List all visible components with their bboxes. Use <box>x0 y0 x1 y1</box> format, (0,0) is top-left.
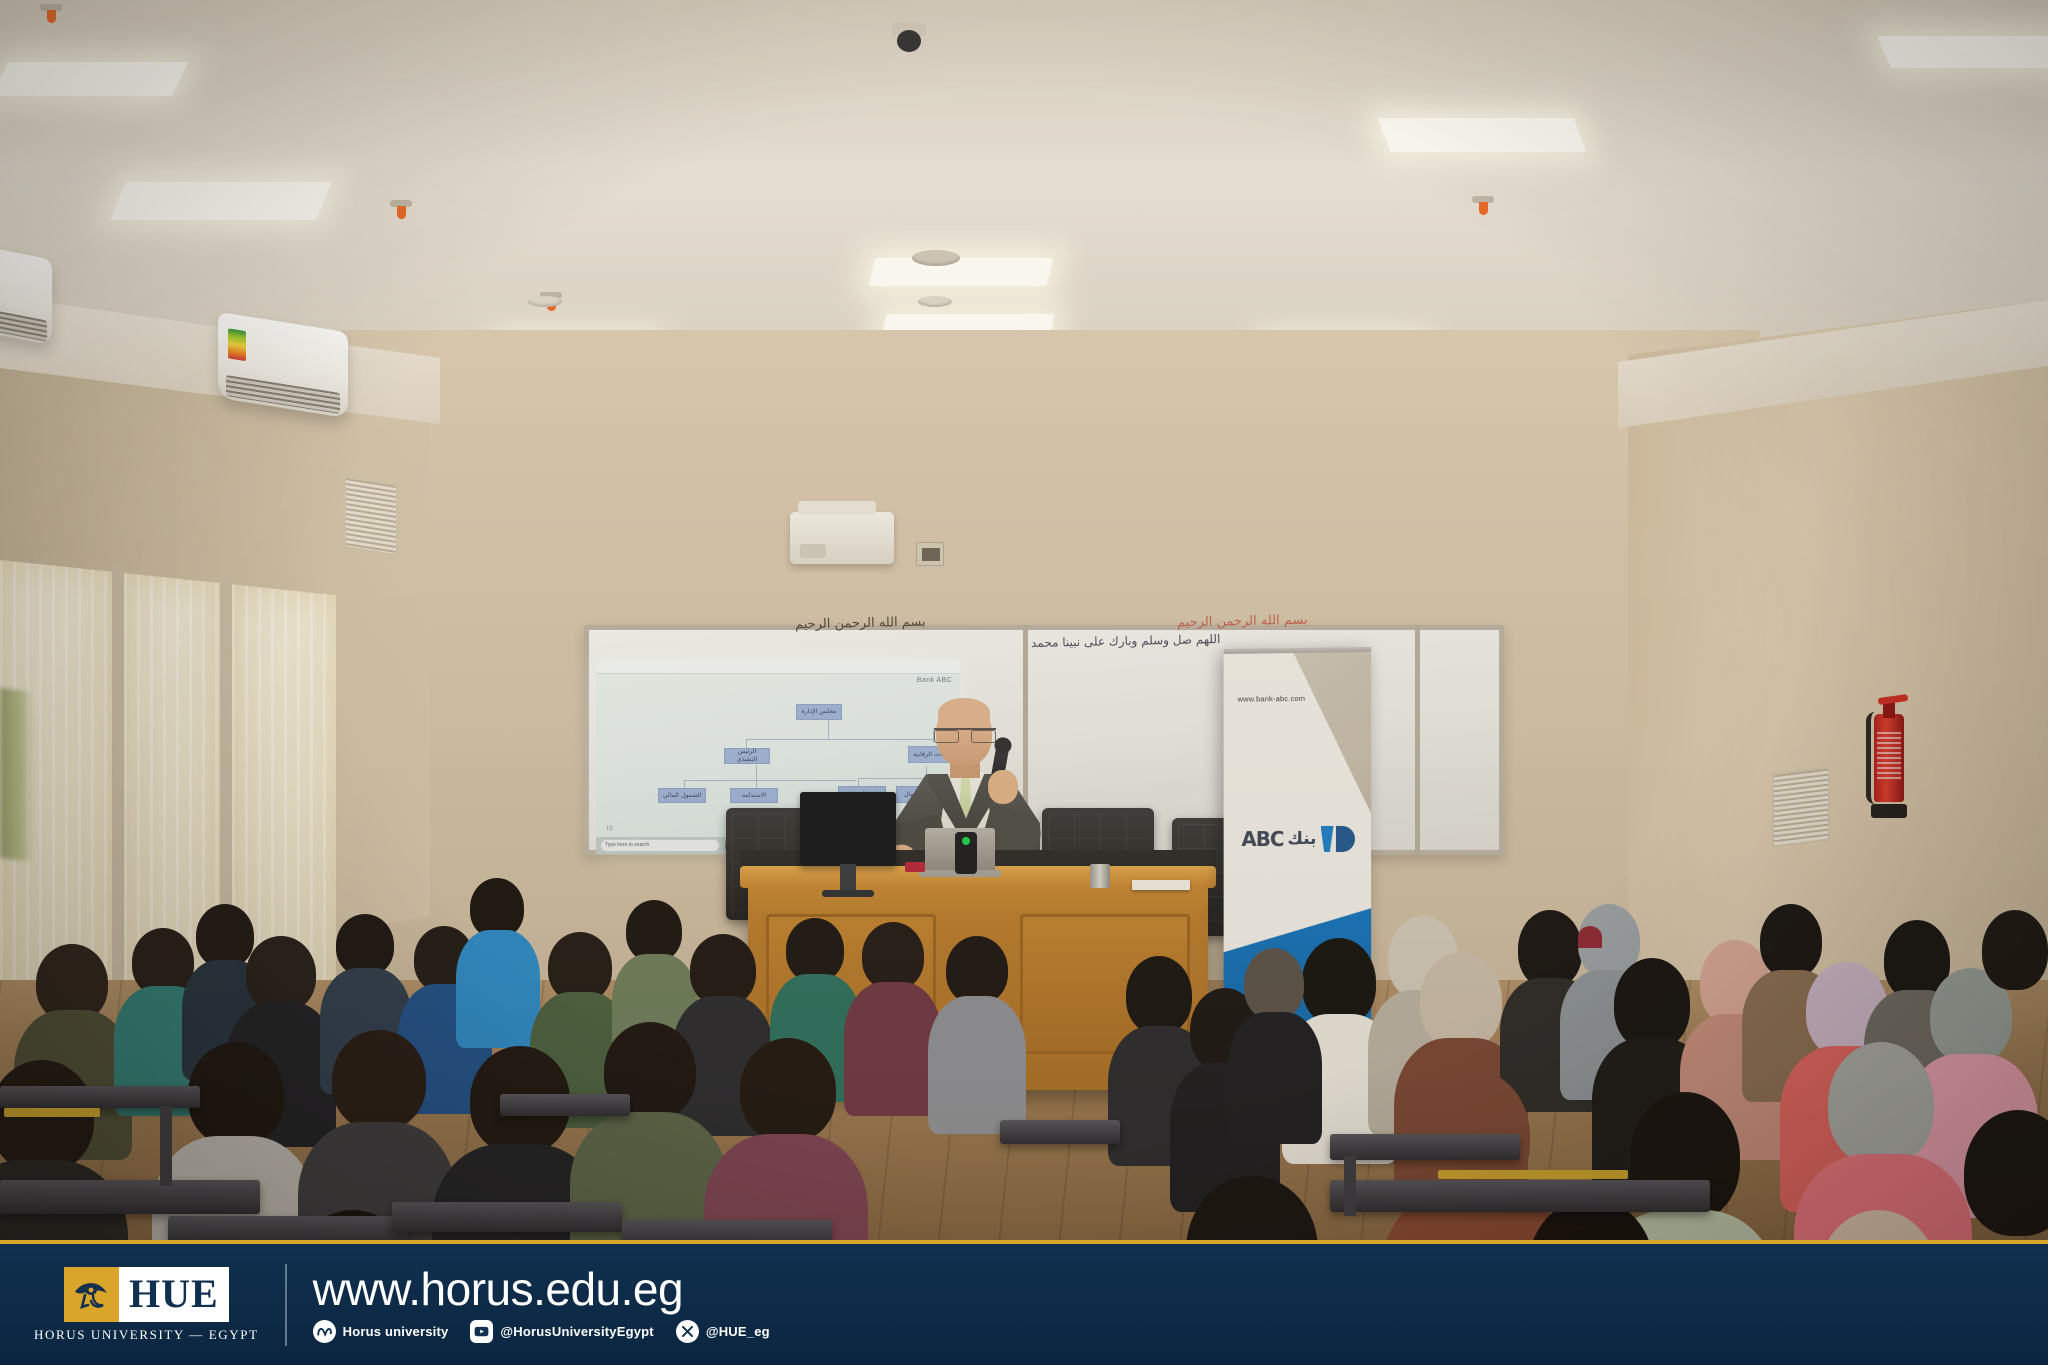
torso <box>928 996 1026 1134</box>
projector-lens-icon <box>800 544 826 558</box>
extinguisher-label <box>1877 732 1901 780</box>
webcam-icon <box>955 832 977 874</box>
head <box>862 922 924 990</box>
head <box>1302 938 1376 1026</box>
bench-trim-1 <box>4 1108 100 1117</box>
slide-bank-logo: Bank ABC <box>917 677 952 684</box>
bench-row-8 <box>1330 1180 1710 1212</box>
slide-page-number: 15 <box>606 826 613 832</box>
head <box>332 1030 426 1130</box>
ceiling-light-8 <box>1877 36 2048 68</box>
photo-scene: بسم الله الرحمن الرحيم بسم الله الرحمن ا… <box>0 0 2048 1365</box>
projector-device <box>790 512 894 564</box>
smoke-detector-2 <box>918 296 952 307</box>
bench-row-1 <box>0 1086 200 1108</box>
hue-logo-subtitle: HORUS UNIVERSITY — EGYPT <box>34 1327 259 1343</box>
social-facebook[interactable]: Horus university <box>313 1320 449 1343</box>
head <box>1578 926 1602 948</box>
bank-abc-logo-arabic: بنك <box>1287 829 1316 849</box>
whiteboard-text-left: بسم الله الرحمن الرحيم <box>795 615 926 633</box>
taskbar-search-input[interactable]: Type here to search <box>601 840 719 851</box>
youtube-icon <box>470 1320 493 1343</box>
brand-footer-bar: HUE HORUS UNIVERSITY — EGYPT www.horus.e… <box>0 1240 2048 1365</box>
social-youtube[interactable]: @HorusUniversityEgypt <box>470 1320 653 1343</box>
head <box>626 900 682 962</box>
org-node-ceo: الرئيس التنفيذي <box>724 748 770 764</box>
social-links: Horus university @HorusUniversityEgypt <box>313 1320 770 1343</box>
desk-red-object <box>905 862 925 872</box>
wall-control-panel[interactable] <box>916 542 944 566</box>
ceiling-speaker <box>912 250 960 266</box>
bench-trim-2 <box>1438 1170 1628 1179</box>
ceiling-light-1 <box>0 62 188 96</box>
org-edge-v1 <box>828 718 829 740</box>
energy-label-icon <box>228 329 246 361</box>
footer-divider <box>285 1264 287 1346</box>
hue-logo[interactable]: HUE HORUS UNIVERSITY — EGYPT <box>34 1267 259 1343</box>
head <box>1828 1042 1934 1166</box>
slide-top-bar <box>596 660 960 674</box>
facebook-handle: Horus university <box>343 1324 449 1339</box>
website-url[interactable]: www.horus.edu.eg <box>313 1266 770 1312</box>
bench-row-9 <box>1000 1120 1120 1144</box>
eye-of-horus-icon <box>64 1267 119 1322</box>
smoke-detector-1 <box>528 296 562 307</box>
facebook-meta-icon <box>313 1320 336 1343</box>
speaker-forehead <box>938 698 990 728</box>
extinguisher-base <box>1871 804 1907 818</box>
head <box>786 918 844 982</box>
head <box>1982 910 2048 990</box>
head <box>1420 952 1502 1050</box>
head <box>336 914 394 976</box>
hue-wordmark: HUE <box>119 1267 229 1322</box>
footer-contact-block: www.horus.edu.eg Horus university <box>313 1266 770 1343</box>
org-node-compliance: الاستدامة <box>730 788 778 803</box>
desktop-monitor <box>800 792 896 866</box>
eyeglasses-icon <box>934 728 996 739</box>
hue-wordmark-text: HUE <box>129 1274 219 1314</box>
org-edge-h2 <box>684 780 856 781</box>
outdoor-greenery <box>0 688 34 862</box>
org-node-inclusion: الشمول المالي <box>658 788 706 803</box>
wall-air-vent-right <box>1772 766 1830 847</box>
ceiling-light-4 <box>869 258 1054 286</box>
security-camera-icon <box>892 22 926 52</box>
social-x[interactable]: @HUE_eg <box>676 1320 770 1343</box>
bank-abc-logo-latin: ABC <box>1241 827 1283 851</box>
bench-row-5 <box>392 1202 622 1232</box>
bench-row-3 <box>0 1180 260 1214</box>
bench-leg-1 <box>160 1106 172 1186</box>
ac-vent-left <box>0 308 47 342</box>
projector-arm <box>798 501 876 515</box>
head <box>188 1042 284 1146</box>
extinguisher-neck <box>1883 702 1895 718</box>
whiteboard-seam-2 <box>1415 625 1420 855</box>
torso <box>1228 1012 1322 1144</box>
bench-row-2 <box>500 1094 630 1116</box>
head <box>1518 910 1582 988</box>
head <box>946 936 1008 1004</box>
head <box>1614 958 1690 1050</box>
youtube-handle: @HorusUniversityEgypt <box>500 1324 653 1339</box>
x-twitter-icon <box>676 1320 699 1343</box>
head <box>196 904 254 968</box>
banner-url: www.bank-abc.com <box>1237 694 1305 704</box>
wall-air-vent-left <box>344 476 398 557</box>
torso <box>456 930 540 1048</box>
air-conditioner-left <box>0 244 52 345</box>
fire-extinguisher-icon <box>1866 692 1908 818</box>
head <box>1126 956 1192 1034</box>
head <box>740 1038 836 1142</box>
bank-abc-logo: ABC بنك <box>1241 826 1354 852</box>
sprinkler-head-5 <box>1476 196 1490 216</box>
bank-abc-logomark-icon <box>1321 826 1355 852</box>
ceiling-light-2 <box>110 182 331 220</box>
x-handle: @HUE_eg <box>706 1324 770 1339</box>
head <box>470 878 524 938</box>
head <box>1760 904 1822 978</box>
sprinkler-head-2 <box>394 200 408 220</box>
hue-logo-row: HUE <box>64 1267 229 1322</box>
org-node-board: مجلس الإدارة <box>796 704 842 720</box>
head <box>246 936 316 1012</box>
bench-row-7 <box>1330 1134 1520 1160</box>
ceiling-light-7 <box>1378 118 1586 152</box>
whiteboard-text-basmala: بسم الله الرحمن الرحيم <box>1177 613 1308 631</box>
sprinkler-head-1 <box>44 4 58 24</box>
head <box>1244 948 1304 1020</box>
speaker-right-hand <box>988 770 1018 804</box>
bench-leg-2 <box>1344 1156 1356 1216</box>
whiteboard-text-salawat: اللهم صل وسلم وبارك على نبينا محمد <box>1031 632 1221 650</box>
